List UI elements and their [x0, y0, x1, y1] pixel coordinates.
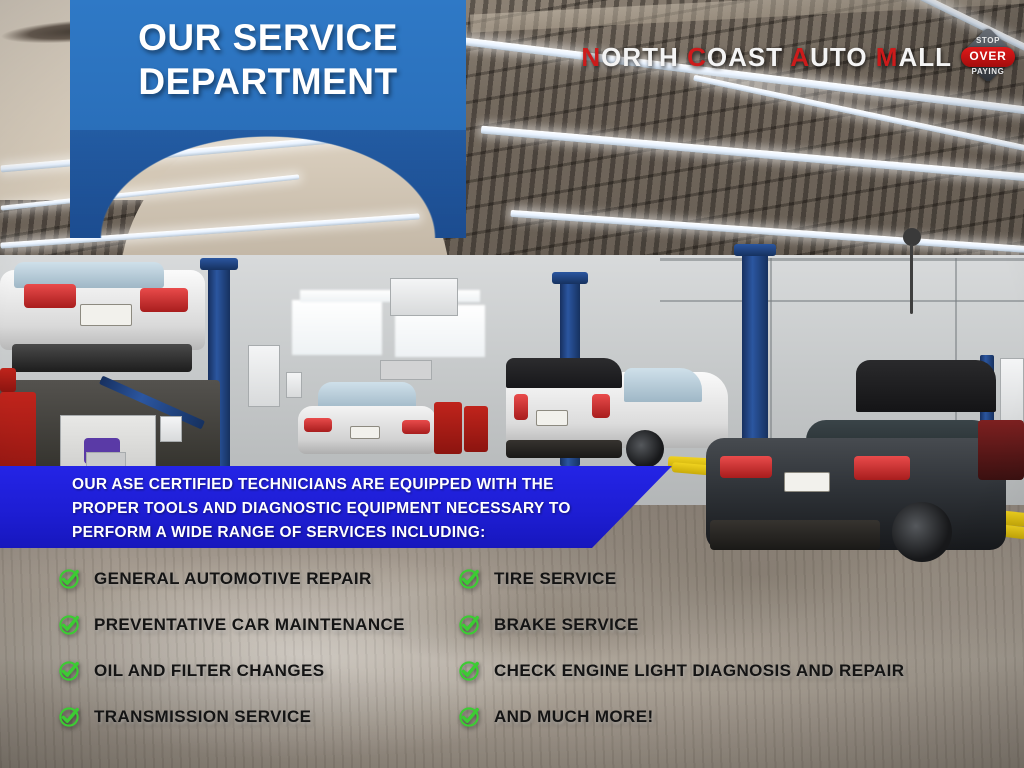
list-item: CHECK ENGINE LIGHT DIAGNOSIS AND REPAIR: [458, 648, 904, 694]
services-column-right: TIRE SERVICE BRAKE SERVICE CHECK ENGINE …: [458, 556, 904, 740]
wall-seam: [660, 258, 1024, 261]
brand-word3-cap: A: [790, 42, 810, 72]
tool-cabinet-red: [464, 406, 488, 452]
workbench: [380, 360, 432, 380]
statement-line1: OUR ASE CERTIFIED TECHNICIANS ARE EQUIPP…: [72, 473, 632, 497]
badge-top-text: STOP: [960, 36, 1016, 45]
car-taillight: [592, 394, 610, 418]
list-item: AND MUCH MORE!: [458, 694, 904, 740]
service-label: TIRE SERVICE: [494, 569, 617, 589]
wall-light-panel: [292, 300, 382, 355]
brand-word1-cap: N: [581, 42, 601, 72]
list-item: OIL AND FILTER CHANGES: [58, 648, 405, 694]
car-white-sedan: [298, 382, 438, 462]
car-white-suv: [506, 358, 734, 476]
brand-name: NORTH COAST AUTO MALL: [581, 42, 952, 73]
electrical-panel: [248, 345, 280, 407]
car-wheel: [892, 502, 952, 562]
ac-unit: [390, 278, 458, 316]
service-label: OIL AND FILTER CHANGES: [94, 661, 324, 681]
brand-word1-rest: ORTH: [601, 42, 679, 72]
car-undercarriage: [12, 344, 192, 372]
statement-text: OUR ASE CERTIFIED TECHNICIANS ARE EQUIPP…: [72, 473, 632, 545]
badge-mid-text: OVER: [961, 49, 1015, 63]
service-department-slide: OUR SERVICE DEPARTMENT NORTH COAST AUTO …: [0, 0, 1024, 768]
check-icon: [58, 660, 80, 682]
check-icon: [58, 706, 80, 728]
brand-logo[interactable]: NORTH COAST AUTO MALL STOP OVER PAYING: [581, 30, 1016, 84]
bucket: [160, 416, 182, 442]
lift-post-top: [552, 272, 588, 284]
service-label: TRANSMISSION SERVICE: [94, 707, 311, 727]
brand-word2-rest: OAST: [707, 42, 783, 72]
services-column-left: GENERAL AUTOMOTIVE REPAIR PREVENTATIVE C…: [58, 556, 405, 740]
brand-word2-cap: C: [687, 42, 707, 72]
license-plate: [784, 472, 830, 492]
car-window: [624, 368, 702, 402]
car-taillight: [304, 418, 332, 432]
car-taillight: [402, 420, 430, 434]
car-taillight: [720, 456, 772, 478]
license-plate: [80, 304, 132, 326]
brand-word4-rest: ALL: [898, 42, 952, 72]
service-label: PREVENTATIVE CAR MAINTENANCE: [94, 615, 405, 635]
check-icon: [458, 660, 480, 682]
page-title-line2: DEPARTMENT: [70, 60, 466, 104]
car-dark-sedan: [706, 360, 1024, 580]
check-icon: [458, 568, 480, 590]
list-item: TIRE SERVICE: [458, 556, 904, 602]
page-title: OUR SERVICE DEPARTMENT: [70, 16, 466, 103]
services-checklist: GENERAL AUTOMOTIVE REPAIR PREVENTATIVE C…: [0, 556, 1024, 736]
check-icon: [458, 706, 480, 728]
brand-word4-cap: M: [876, 42, 899, 72]
car-wheel: [626, 430, 664, 468]
tool-cabinet-red: [0, 368, 16, 392]
statement-line2: PROPER TOOLS AND DIAGNOSTIC EQUIPMENT NE…: [72, 497, 632, 521]
car-lower-trim: [506, 440, 622, 458]
lift-post-top: [734, 244, 776, 256]
list-item: PREVENTATIVE CAR MAINTENANCE: [58, 602, 405, 648]
hanging-hose-line: [910, 244, 913, 314]
car-open-hatch: [506, 358, 622, 388]
check-icon: [58, 614, 80, 636]
car-taillight: [514, 394, 528, 420]
page-title-line1: OUR SERVICE: [70, 16, 466, 60]
badge-bottom-text: PAYING: [960, 67, 1016, 76]
car-taillight: [140, 288, 188, 312]
stop-over-paying-badge: STOP OVER PAYING: [960, 30, 1016, 84]
statement-line3: PERFORM A WIDE RANGE OF SERVICES INCLUDI…: [72, 521, 632, 545]
car-taillight: [24, 284, 76, 308]
car-taillight: [854, 456, 910, 480]
car-white-lifted: [0, 262, 210, 392]
license-plate: [350, 426, 380, 439]
list-item: TRANSMISSION SERVICE: [58, 694, 405, 740]
car-open-trunk: [856, 360, 996, 412]
tool-cabinet-red: [434, 402, 462, 454]
service-label: BRAKE SERVICE: [494, 615, 639, 635]
car-lower-trim: [710, 520, 880, 550]
check-icon: [458, 614, 480, 636]
wall-seam: [660, 300, 1024, 302]
list-item: BRAKE SERVICE: [458, 602, 904, 648]
service-label: CHECK ENGINE LIGHT DIAGNOSIS AND REPAIR: [494, 661, 904, 681]
service-label: AND MUCH MORE!: [494, 707, 654, 727]
list-item: GENERAL AUTOMOTIVE REPAIR: [58, 556, 405, 602]
car-far-right: [978, 420, 1024, 480]
service-label: GENERAL AUTOMOTIVE REPAIR: [94, 569, 372, 589]
license-plate: [536, 410, 568, 426]
brand-word3-rest: UTO: [810, 42, 867, 72]
check-icon: [58, 568, 80, 590]
